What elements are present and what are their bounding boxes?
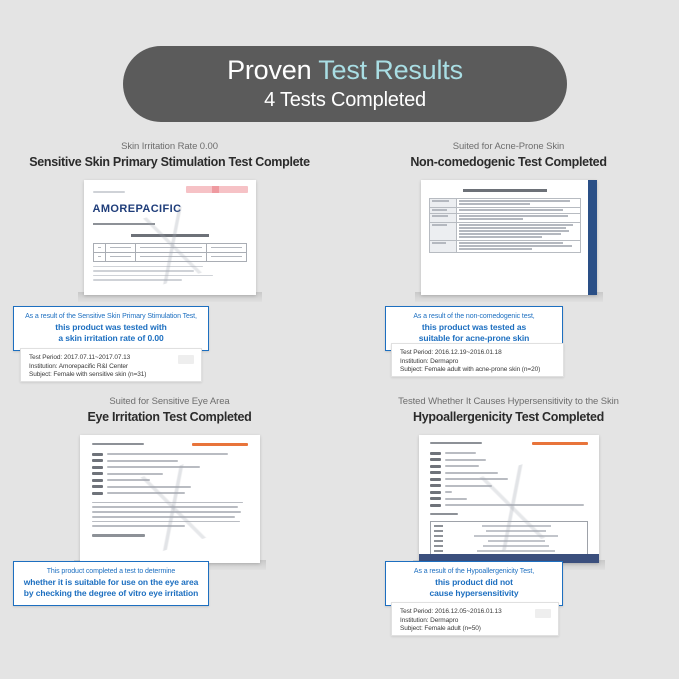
stamp-icon <box>178 355 194 364</box>
table-cell <box>456 199 580 208</box>
document-header-row <box>430 442 588 445</box>
banner-title: Proven Test Results <box>227 55 463 85</box>
callout-line-1: As a result of the non-comedogenic test, <box>392 312 556 322</box>
table-cell-label <box>429 214 456 223</box>
document-highlight-text <box>532 442 588 445</box>
list-item <box>430 452 588 455</box>
certificate-document: AMOREPACIFIC <box>84 180 256 295</box>
panel-title: Hypoallergenicity Test Completed <box>339 409 678 426</box>
info-institution: Institution: Dermapro <box>400 358 555 367</box>
table-cell <box>105 252 136 261</box>
document-heading <box>131 234 209 237</box>
info-subject: Subject: Female with sensitive skin (n=3… <box>29 371 193 380</box>
table-row <box>93 243 246 252</box>
table-row <box>429 223 580 241</box>
panel-heading: Skin Irritation Rate 0.00 Sensitive Skin… <box>0 140 339 171</box>
table-row <box>429 241 580 253</box>
list-item <box>430 497 588 500</box>
callout-line-3: by checking the degree of vitro eye irri… <box>20 588 202 599</box>
info-test-period: Test Period: 2017.07.11~2017.07.13 <box>29 354 193 363</box>
table-cell <box>456 241 580 253</box>
result-callout: As a result of the Sensitive Skin Primar… <box>13 306 209 351</box>
certificate-document <box>421 180 597 295</box>
table-row <box>429 214 580 223</box>
certificate-document <box>80 435 260 563</box>
table-row <box>429 199 580 208</box>
list-item <box>430 465 588 468</box>
table-cell <box>93 252 105 261</box>
list-item <box>430 471 588 474</box>
certificate-document <box>419 435 599 563</box>
table-cell <box>456 223 580 241</box>
panel-title: Sensitive Skin Primary Stimulation Test … <box>0 154 339 171</box>
table-row <box>434 550 584 552</box>
info-institution: Institution: Dermapro <box>400 617 550 626</box>
list-item <box>92 472 248 475</box>
callout-line-3: cause hypersensitivity <box>392 588 556 599</box>
document-microtext <box>93 191 125 193</box>
list-item <box>92 453 248 456</box>
document-highlight-text <box>192 443 248 446</box>
list-item <box>92 492 248 495</box>
document-table <box>429 198 581 253</box>
proven-test-results-page: Proven Test Results 4 Tests Completed Sk… <box>0 0 679 679</box>
panel-sensitive-skin-test: Skin Irritation Rate 0.00 Sensitive Skin… <box>0 140 339 395</box>
table-row <box>434 540 584 542</box>
callout-line-2: whether it is suitable for use on the ey… <box>20 577 202 588</box>
panel-heading: Suited for Sensitive Eye Area Eye Irrita… <box>0 395 339 426</box>
document-section-label <box>430 513 458 516</box>
panel-subtitle: Suited for Sensitive Eye Area <box>0 395 339 408</box>
result-callout: As a result of the Hypoallergenicity Tes… <box>385 561 563 606</box>
document-page <box>80 435 260 563</box>
document-table <box>93 243 247 262</box>
list-item <box>430 458 588 461</box>
banner-subtitle: 4 Tests Completed <box>264 87 426 113</box>
header-banner: Proven Test Results 4 Tests Completed <box>123 46 567 122</box>
list-item <box>92 466 248 469</box>
table-cell-label <box>429 241 456 253</box>
panel-title: Non-comedogenic Test Completed <box>339 154 678 171</box>
panel-subtitle: Skin Irritation Rate 0.00 <box>0 140 339 153</box>
panel-subtitle: Suited for Acne-Prone Skin <box>339 140 678 153</box>
document-footer-note <box>92 534 145 537</box>
banner-title-plain: Proven <box>227 55 318 85</box>
table-cell <box>206 252 246 261</box>
panel-title: Eye Irritation Test Completed <box>0 409 339 426</box>
test-panel-grid: Skin Irritation Rate 0.00 Sensitive Skin… <box>0 140 679 650</box>
list-item <box>430 504 588 507</box>
list-item <box>430 478 588 481</box>
document-bullet-list <box>430 452 588 507</box>
panel-heading: Tested Whether It Causes Hypersensitivit… <box>339 395 678 426</box>
list-item <box>92 485 248 488</box>
table-cell <box>93 243 105 252</box>
panel-eye-irritation-test: Suited for Sensitive Eye Area Eye Irrita… <box>0 395 339 650</box>
panel-non-comedogenic-test: Suited for Acne-Prone Skin Non-comedogen… <box>339 140 678 395</box>
list-item <box>92 459 248 462</box>
info-institution: Institution: Amorepacific R&I Center <box>29 363 193 372</box>
list-item <box>430 484 588 487</box>
panel-row-top: Skin Irritation Rate 0.00 Sensitive Skin… <box>0 140 679 395</box>
callout-line-2: this product was tested with <box>20 322 202 333</box>
panel-hypoallergenicity-test: Tested Whether It Causes Hypersensitivit… <box>339 395 678 650</box>
panel-subtitle: Tested Whether It Causes Hypersensitivit… <box>339 395 678 408</box>
info-subject: Subject: Female adult (n=50) <box>400 625 550 634</box>
table-row <box>434 525 584 527</box>
document-heading <box>463 189 547 192</box>
list-item <box>430 491 588 494</box>
table-cell <box>456 214 580 223</box>
document-header-row <box>92 443 248 446</box>
info-subject: Subject: Female adult with acne-prone sk… <box>400 366 555 375</box>
result-callout: This product completed a test to determi… <box>13 561 209 606</box>
callout-line-3: a skin irritation rate of 0.00 <box>20 333 202 344</box>
panel-heading: Suited for Acne-Prone Skin Non-comedogen… <box>339 140 678 171</box>
document-bullet-list <box>92 453 248 495</box>
table-cell <box>105 243 136 252</box>
callout-line-1: As a result of the Sensitive Skin Primar… <box>20 312 202 322</box>
table-row <box>434 545 584 547</box>
table-cell <box>136 252 206 261</box>
amorepacific-logo: AMOREPACIFIC <box>93 203 247 215</box>
callout-line-2: this product was tested as <box>392 322 556 333</box>
document-number <box>92 443 144 445</box>
callout-line-1: This product completed a test to determi… <box>20 567 202 577</box>
document-page: AMOREPACIFIC <box>84 180 256 295</box>
test-info-card: Test Period: 2017.07.11~2017.07.13 Insti… <box>20 348 202 382</box>
table-row <box>93 252 246 261</box>
table-row <box>434 530 584 532</box>
panel-row-bottom: Suited for Sensitive Eye Area Eye Irrita… <box>0 395 679 650</box>
table-cell-label <box>429 199 456 208</box>
info-test-period: Test Period: 2016.12.19~2016.01.18 <box>400 349 555 358</box>
document-paragraph <box>92 502 248 528</box>
test-info-card: Test Period: 2016.12.05~2016.01.13 Insti… <box>391 602 559 636</box>
document-number <box>93 223 155 225</box>
stamp-icon <box>535 609 551 618</box>
table-cell <box>136 243 206 252</box>
callout-line-1: As a result of the Hypoallergenicity Tes… <box>392 567 556 577</box>
document-notes <box>93 266 247 281</box>
list-item <box>92 479 248 482</box>
callout-line-2: this product did not <box>392 577 556 588</box>
document-side-bar <box>588 180 597 295</box>
document-page <box>419 435 599 563</box>
document-page <box>421 180 597 295</box>
banner-title-accent: Test Results <box>318 55 463 85</box>
table-cell-label <box>429 223 456 241</box>
table-row <box>434 535 584 537</box>
info-test-period: Test Period: 2016.12.05~2016.01.13 <box>400 608 550 617</box>
table-cell <box>206 243 246 252</box>
document-header-bar <box>186 186 248 193</box>
test-info-card: Test Period: 2016.12.19~2016.01.18 Insti… <box>391 343 564 377</box>
document-number <box>430 442 482 444</box>
